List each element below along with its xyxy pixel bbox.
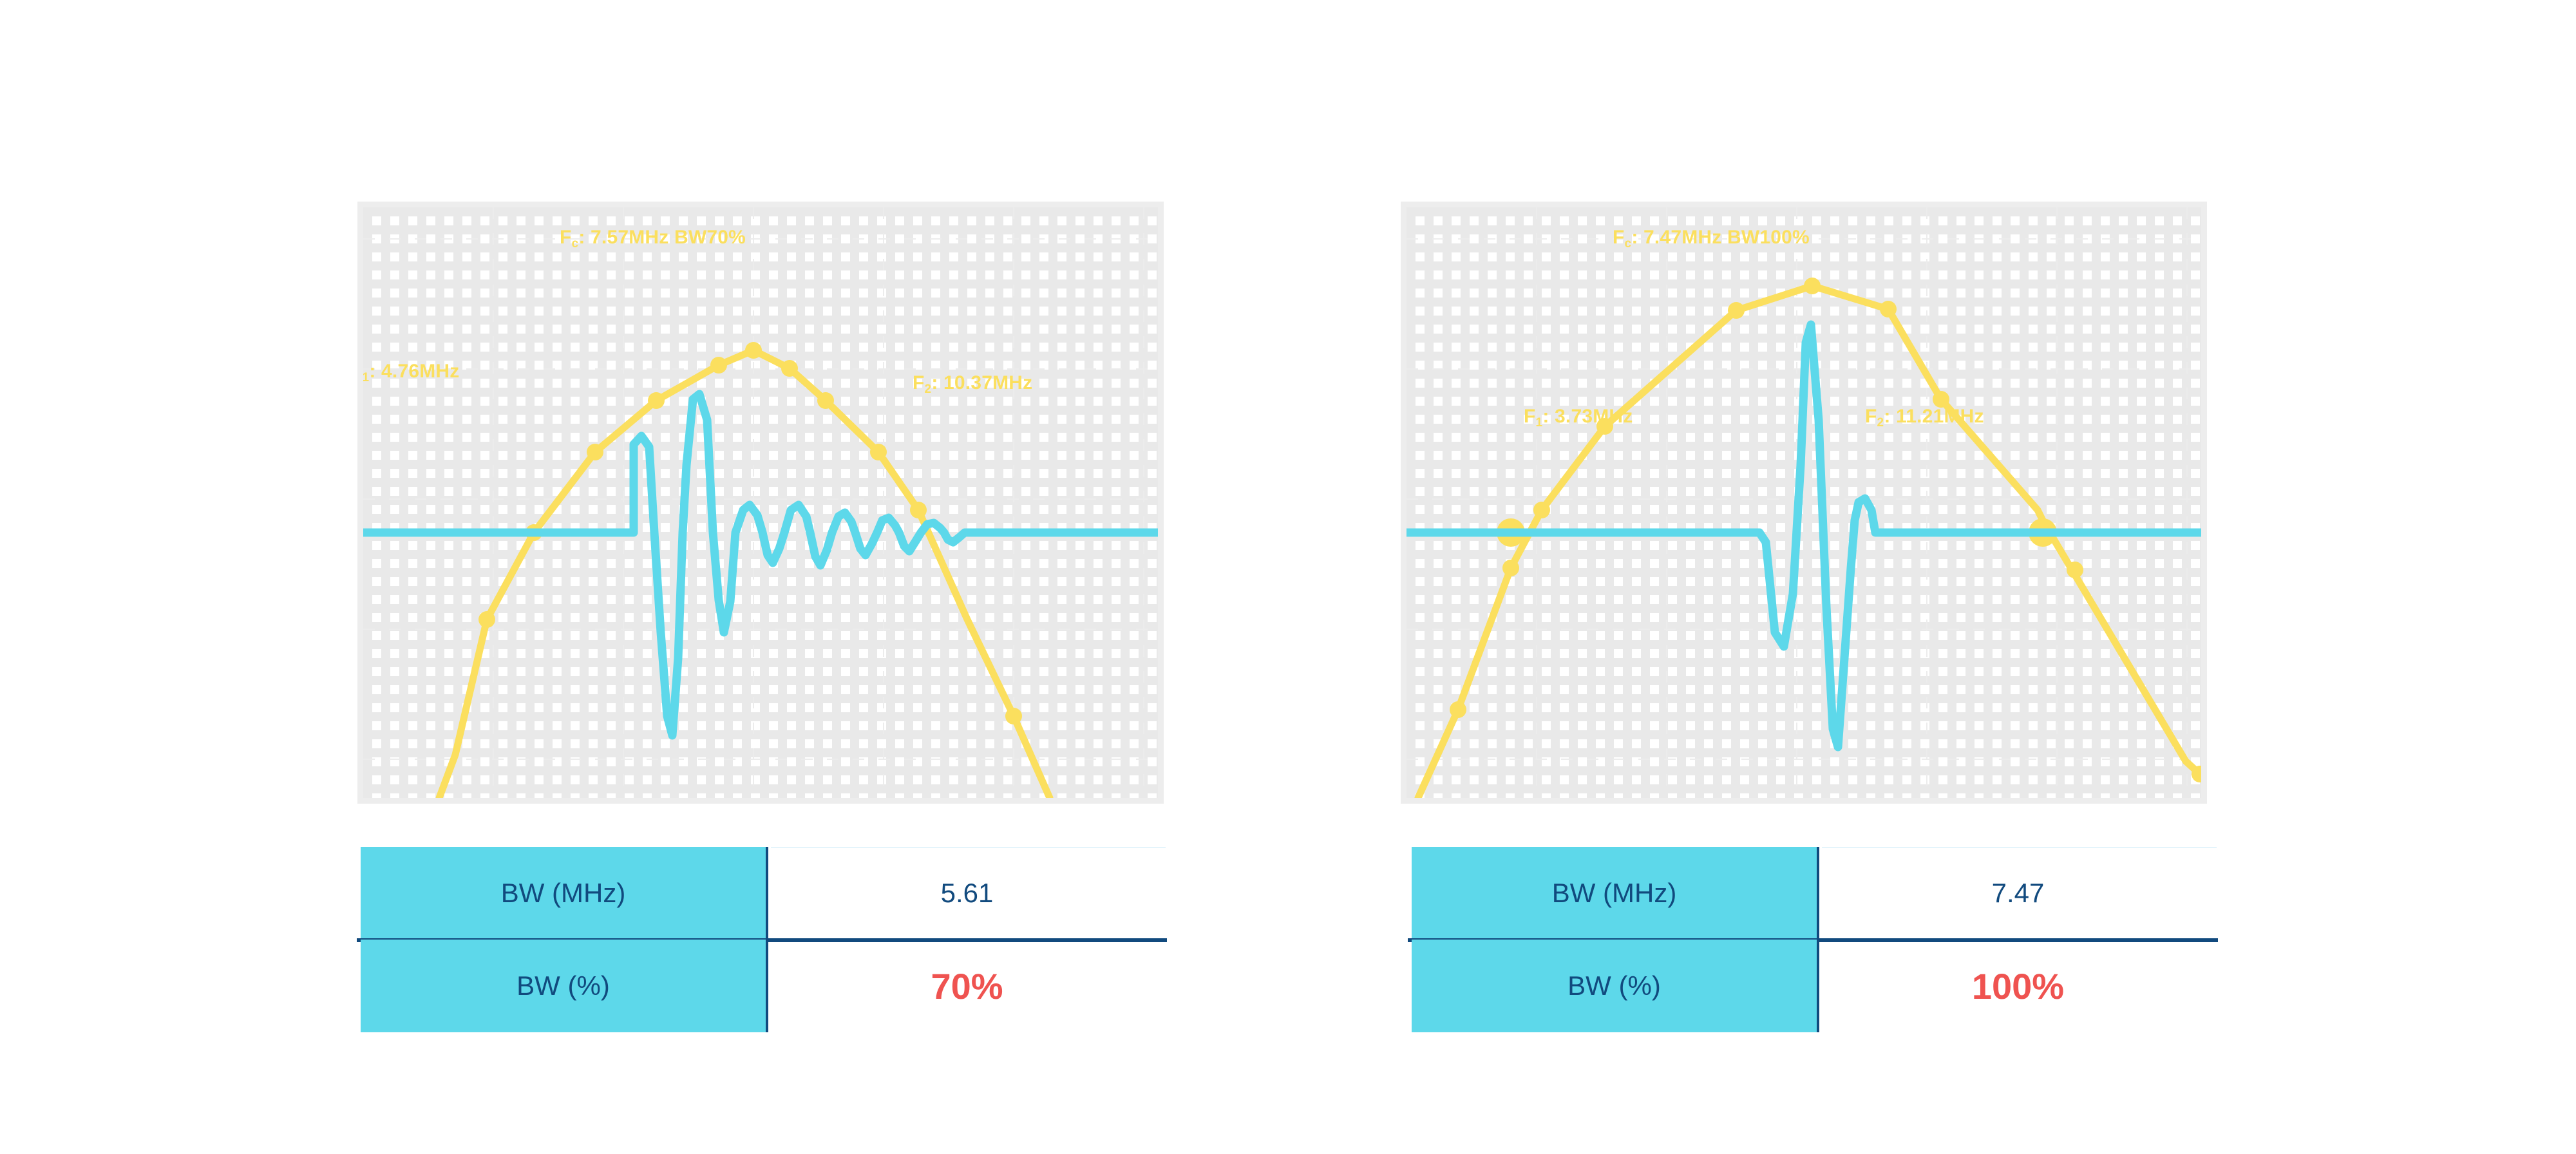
fc-text: : 7.57MHz BW70% — [578, 227, 746, 248]
table-header-bw-mhz-right: BW (MHz) — [1412, 847, 1819, 940]
f1-symbol: F — [1524, 406, 1536, 427]
chart-plot-area-left: Fc: 7.57MHz BW70% F1: 4.76MHz F2: 10.37M… — [363, 207, 1158, 798]
fc-symbol: F — [560, 227, 572, 248]
chart-label-fc-right: Fc: 7.47MHz BW100% — [1613, 228, 1810, 250]
table-row-bw-pct-left: BW (%) 70% — [361, 940, 1166, 1032]
fc-text: : 7.47MHz BW100% — [1631, 227, 1810, 248]
table-value-bw-pct-left: 70% — [768, 940, 1166, 1032]
table-row-bw-pct-right: BW (%) 100% — [1412, 940, 2217, 1032]
bw-table-right: BW (MHz) 7.47 BW (%) 100% — [1412, 847, 2217, 1032]
chart-label-f1-right: F1: 3.73MHz — [1524, 407, 1633, 429]
chart-panel-right: Fc: 7.47MHz BW100% F1: 3.73MHz F2: 11.21… — [1401, 202, 2207, 804]
chart-label-f2-left: F2: 10.37MHz — [913, 374, 1032, 395]
fc-subscript: c — [1625, 237, 1632, 251]
table-header-bw-mhz-left: BW (MHz) — [361, 847, 768, 940]
f1-subscript: 1 — [363, 371, 369, 384]
table-header-bw-pct-right: BW (%) — [1412, 940, 1819, 1032]
chart-svg-left — [363, 207, 1158, 798]
f2-subscript: 2 — [1877, 416, 1884, 430]
chart-label-fc-left: Fc: 7.57MHz BW70% — [560, 228, 746, 250]
f1-text: : 3.73MHz — [1542, 406, 1633, 427]
fc-symbol: F — [1613, 227, 1625, 248]
table-row-bw-mhz-right: BW (MHz) 7.47 — [1412, 847, 2217, 940]
chart-label-f1-left: F1: 4.76MHz — [363, 362, 459, 384]
figure-root: Fc: 7.57MHz BW70% F1: 4.76MHz F2: 10.37M… — [0, 0, 2576, 1154]
bw-table-left: BW (MHz) 5.61 BW (%) 70% — [361, 847, 1166, 1032]
f2-symbol: F — [1865, 406, 1877, 427]
f2-text: : 10.37MHz — [931, 372, 1032, 393]
table-value-bw-pct-right: 100% — [1819, 940, 2217, 1032]
table-value-bw-mhz-right: 7.47 — [1819, 847, 2217, 940]
f2-text: : 11.21MHz — [1884, 406, 1984, 427]
fc-subscript: c — [572, 237, 579, 251]
f2-symbol: F — [913, 372, 925, 393]
f1-subscript: 1 — [1536, 416, 1543, 430]
table-row-bw-mhz-left: BW (MHz) 5.61 — [361, 847, 1166, 940]
f2-subscript: 2 — [925, 383, 932, 396]
table-value-bw-mhz-left: 5.61 — [768, 847, 1166, 940]
chart-panel-left: Fc: 7.57MHz BW70% F1: 4.76MHz F2: 10.37M… — [357, 202, 1164, 804]
chart-plot-area-right: Fc: 7.47MHz BW100% F1: 3.73MHz F2: 11.21… — [1406, 207, 2201, 798]
table-header-bw-pct-left: BW (%) — [361, 940, 768, 1032]
chart-label-f2-right: F2: 11.21MHz — [1865, 407, 1984, 429]
f1-text: : 4.76MHz — [369, 361, 459, 382]
chart-svg-right — [1406, 207, 2201, 798]
